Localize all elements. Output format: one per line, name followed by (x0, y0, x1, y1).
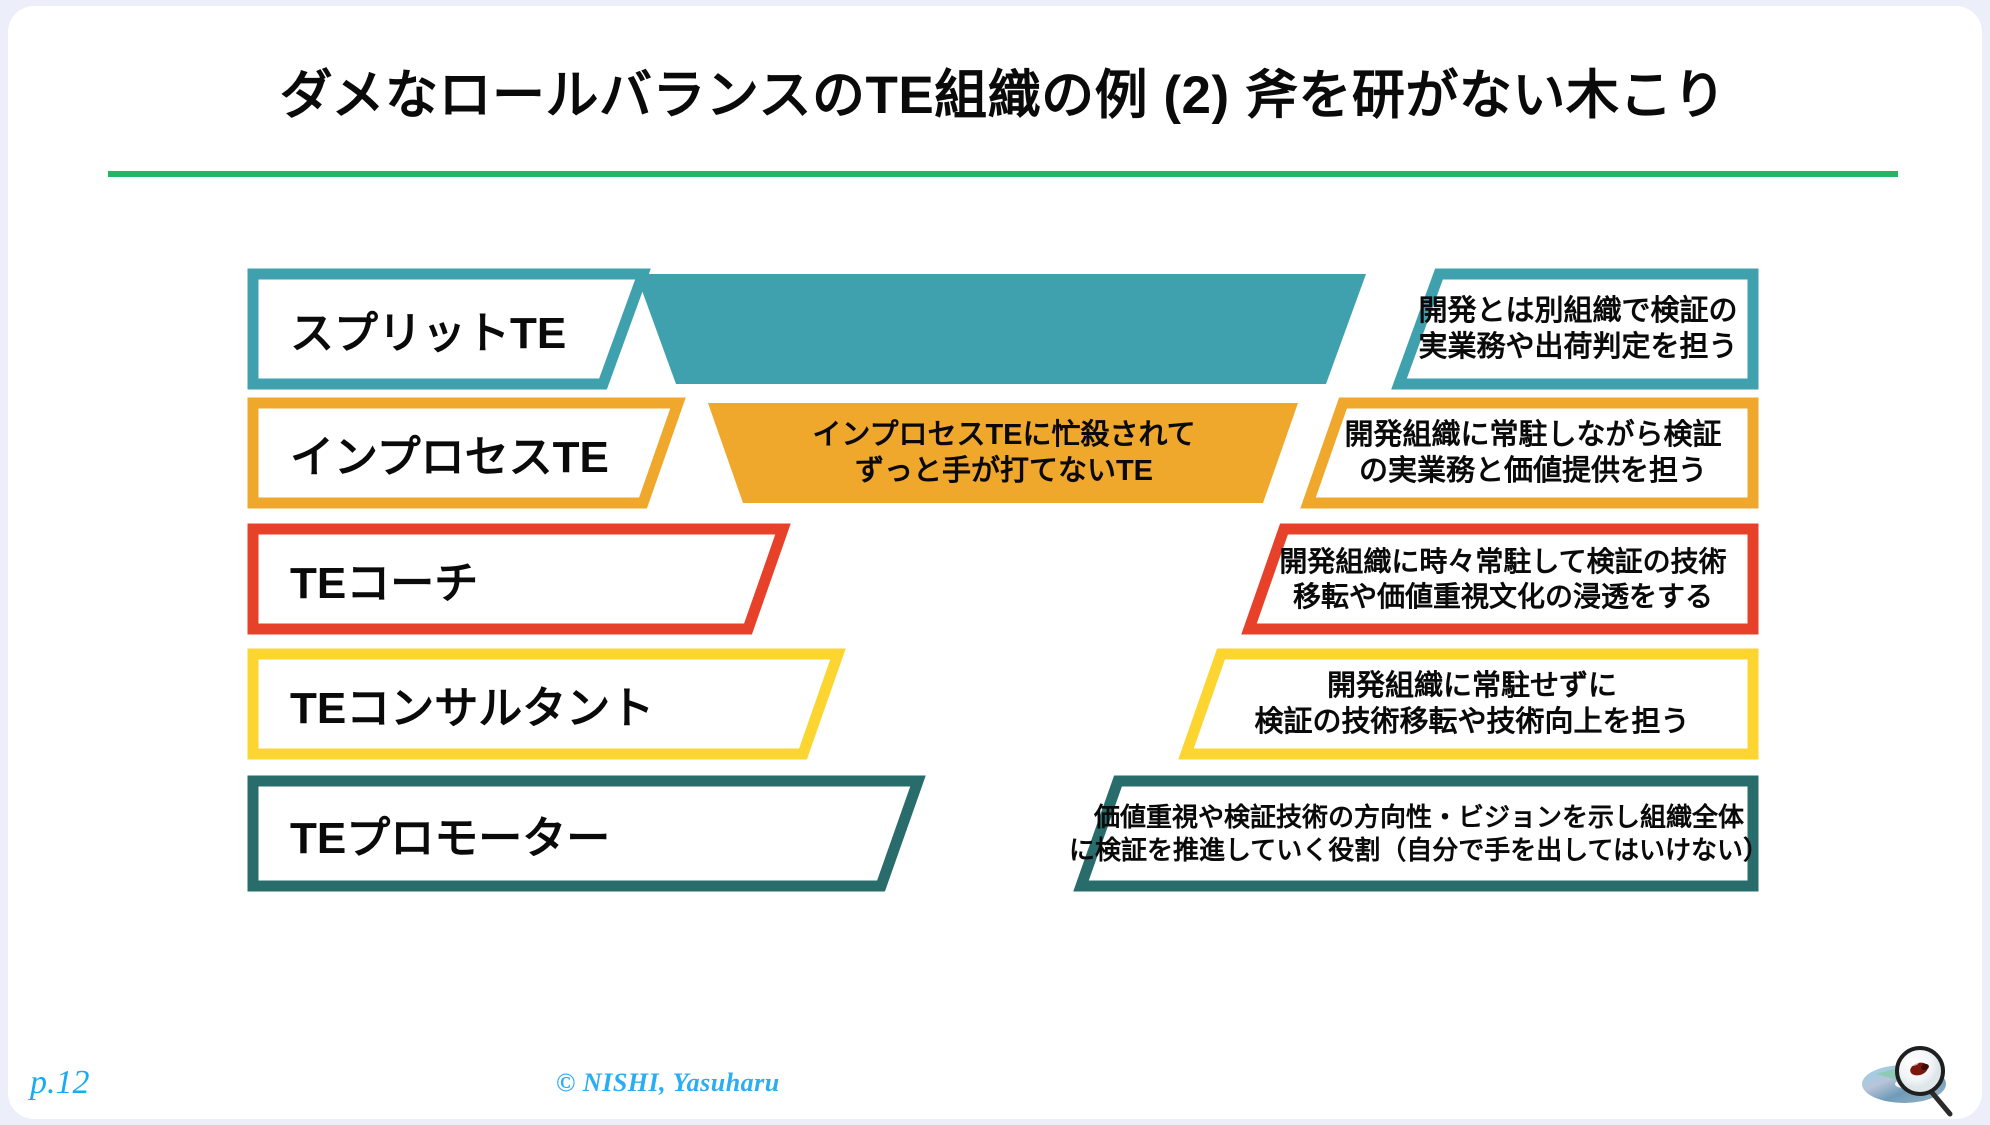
filled-bar-line-2a: インプロセスTEに忙殺されて (812, 417, 1195, 453)
note-line-5b: に検証を推進していく役割（自分で手を出してはいけない） (1069, 834, 1769, 867)
role-label-5: TEプロモーター (290, 781, 890, 886)
role-ladder-diagram: スプリットTE 開発とは別組織で検証の 実業務や出荷判定を担う (8, 6, 1982, 1119)
note-line-3a: 開発組織に時々常駐して検証の技術 (1279, 544, 1726, 579)
note-text-4: 開発組織に常駐せずに 検証の技術移転や技術向上を担う (1196, 654, 1748, 754)
note-line-3b: 移転や価値重視文化の浸透をする (1293, 579, 1713, 614)
role-label-3: TEコーチ (290, 529, 770, 629)
note-text-2: 開発組織に常駐しながら検証 の実業務と価値提供を担う (1318, 403, 1748, 503)
footer-page-number: p.12 (30, 1064, 90, 1102)
note-line-1b: 実業務や出荷判定を担う (1418, 329, 1737, 365)
filled-bar-text-2: インプロセスTEに忙殺されて ずっと手が打てないTE (714, 403, 1294, 503)
note-line-4b: 検証の技術移転や技術向上を担う (1254, 704, 1689, 740)
note-line-1a: 開発とは別組織で検証の (1418, 293, 1737, 329)
note-line-2a: 開発組織に常駐しながら検証 (1344, 417, 1721, 453)
slide-canvas: ダメなロールバランスのTE組織の例 (2) 斧を研がない木こり スプリットTE (8, 6, 1982, 1119)
role-label-4: TEコンサルタント (290, 654, 820, 754)
note-line-2b: の実業務と価値提供を担う (1359, 453, 1707, 489)
cd-magnifier-bug-logo-icon (1846, 1044, 1972, 1118)
role-label-1: スプリットTE (290, 274, 630, 384)
filled-bar-line-2b: ずっと手が打てないTE (855, 453, 1153, 489)
note-text-1: 開発とは別組織で検証の 実業務や出荷判定を担う (1408, 274, 1748, 384)
role-label-2: インプロセスTE (290, 403, 670, 503)
note-text-5: 価値重視や検証技術の方向性・ビジョンを示し組織全体 に検証を推進していく役割（自… (1091, 781, 1747, 886)
footer-credit: © NISHI, Yasuharu (556, 1068, 780, 1098)
filled-bar-1[interactable] (636, 274, 1366, 384)
note-text-3: 開発組織に時々常駐して検証の技術 移転や価値重視文化の浸透をする (1258, 529, 1748, 629)
note-line-4a: 開発組織に常駐せずに (1327, 668, 1617, 704)
note-line-5a: 価値重視や検証技術の方向性・ビジョンを示し組織全体 (1094, 801, 1744, 834)
